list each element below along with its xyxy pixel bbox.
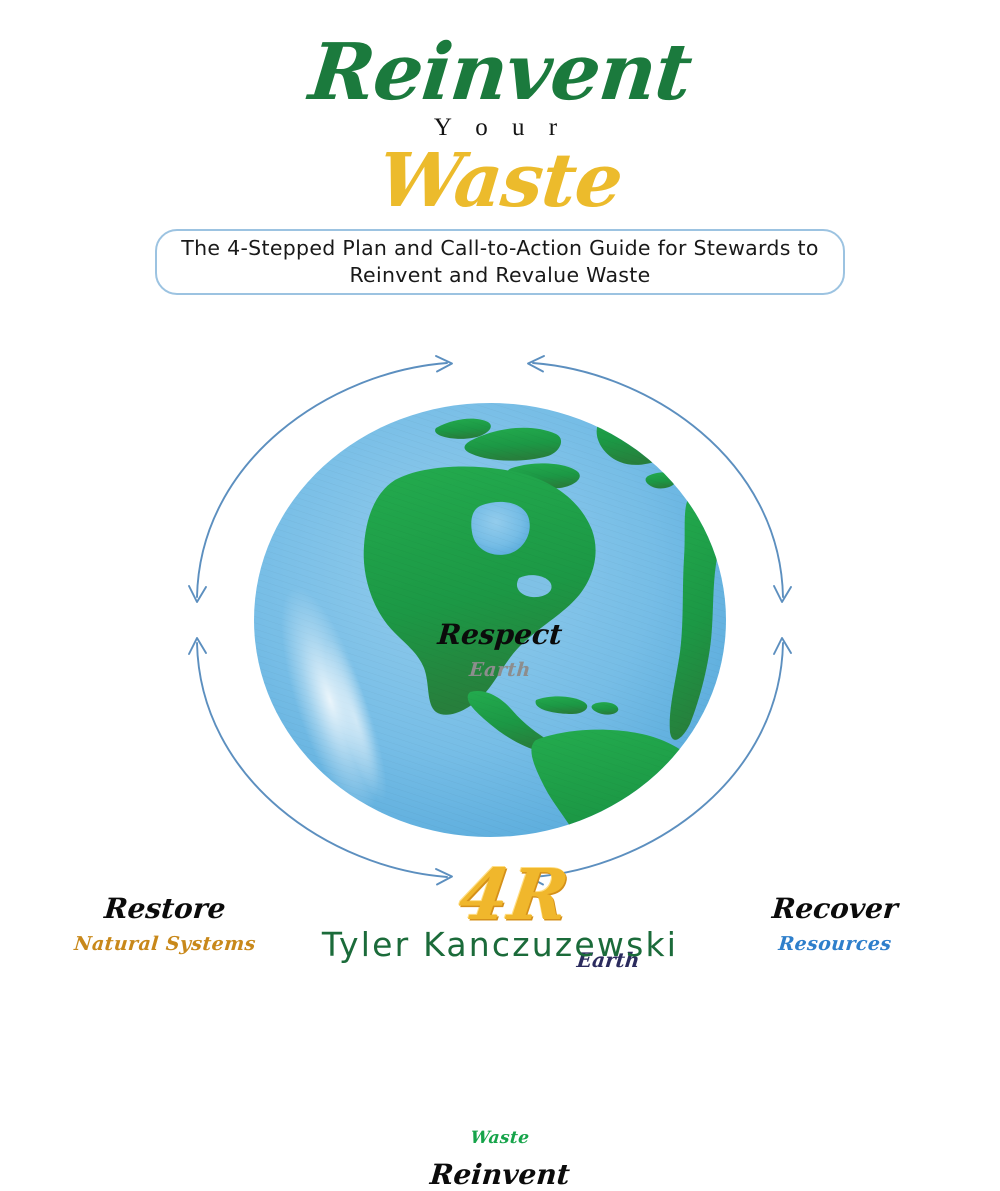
cycle-graphic bbox=[0, 300, 1000, 920]
subtitle-box: The 4-Stepped Plan and Call-to-Action Gu… bbox=[155, 229, 845, 295]
cycle-step-reinvent: Waste Reinvent bbox=[340, 1128, 660, 1191]
title-word-reinvent: Reinvent bbox=[306, 36, 694, 110]
subtitle-text: The 4-Stepped Plan and Call-to-Action Gu… bbox=[157, 235, 843, 289]
cycle-step-recover-verb: Recover bbox=[709, 892, 962, 925]
globe-4r-text: 4R bbox=[454, 853, 575, 936]
cycle-step-reinvent-verb: Reinvent bbox=[339, 1158, 662, 1191]
four-r-cycle-diagram: 4R Earth Respect Earth Recover Resources… bbox=[0, 300, 1000, 920]
cycle-step-respect-object: Earth bbox=[339, 659, 661, 681]
cycle-step-restore-verb: Restore bbox=[39, 892, 292, 925]
author-name: Tyler Kanczuzewski bbox=[0, 925, 1000, 964]
cycle-step-reinvent-object: Waste bbox=[339, 1128, 661, 1148]
cycle-step-respect: Respect Earth bbox=[340, 618, 660, 681]
cycle-step-respect-verb: Respect bbox=[339, 618, 662, 651]
title-word-waste: Waste bbox=[375, 144, 625, 218]
cover-title-block: Reinvent Y o u r Waste bbox=[0, 36, 1000, 218]
